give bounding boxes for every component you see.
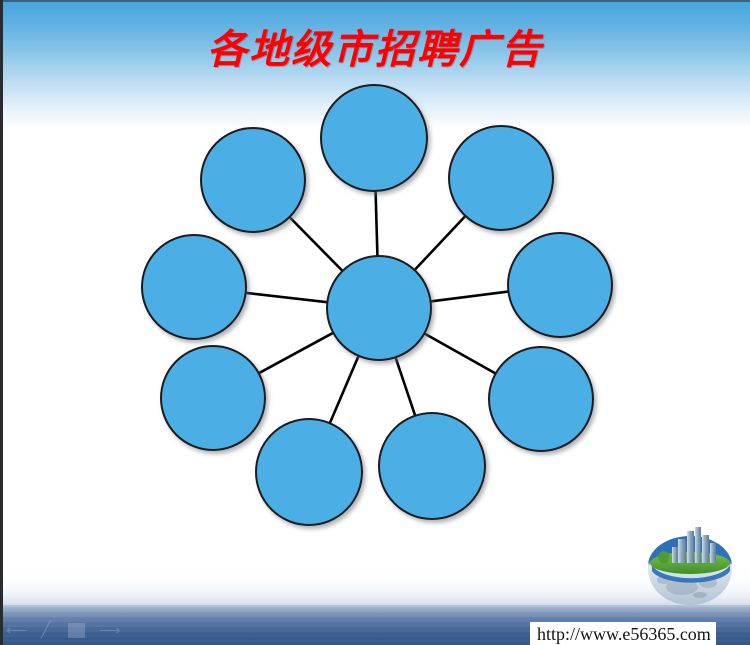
petal-top-right[interactable] <box>449 126 553 230</box>
spoke-petal-top-right <box>413 215 467 272</box>
petal-left[interactable] <box>142 235 246 339</box>
petal-bottom-west[interactable] <box>256 419 362 525</box>
watermark-url: http://www.e56365.com <box>530 622 716 645</box>
radial-diagram <box>0 0 750 645</box>
petal-top-right-shape[interactable] <box>449 126 553 230</box>
petal-top-left[interactable] <box>201 128 305 232</box>
hub-node-shape[interactable] <box>327 256 431 360</box>
petal-bottom-left[interactable] <box>161 346 265 450</box>
petal-top[interactable] <box>321 85 427 191</box>
radial-diagram-svg <box>0 0 750 645</box>
petal-bottom-right[interactable] <box>489 347 593 451</box>
petal-bottom-left-shape[interactable] <box>161 346 265 450</box>
petal-bottom-east[interactable] <box>379 413 485 519</box>
spoke-petal-bottom-right <box>423 333 498 375</box>
petal-left-shape[interactable] <box>142 235 246 339</box>
hub-node[interactable] <box>327 256 431 360</box>
petal-right-shape[interactable] <box>508 233 612 337</box>
petal-top-left-shape[interactable] <box>201 128 305 232</box>
petal-top-shape[interactable] <box>321 85 427 191</box>
globe-city-logo <box>642 525 738 609</box>
petal-bottom-right-shape[interactable] <box>489 347 593 451</box>
tree-icon <box>658 551 670 563</box>
nodes-layer <box>142 85 612 525</box>
spoke-petal-bottom-east <box>395 355 416 417</box>
spoke-petal-bottom-left <box>257 332 335 374</box>
spoke-petal-left <box>244 293 330 303</box>
spoke-petal-top-left <box>288 216 344 273</box>
spoke-petal-top <box>376 189 378 258</box>
spoke-petal-right <box>429 291 511 301</box>
slide-canvas: ⟵ ╱ ⟶ 各地级市招聘广告 <box>0 0 750 645</box>
petal-right[interactable] <box>508 233 612 337</box>
petal-bottom-east-shape[interactable] <box>379 413 485 519</box>
spoke-petal-bottom-west <box>329 354 359 425</box>
petal-bottom-west-shape[interactable] <box>256 419 362 525</box>
globe-city-logo-svg <box>642 525 738 609</box>
